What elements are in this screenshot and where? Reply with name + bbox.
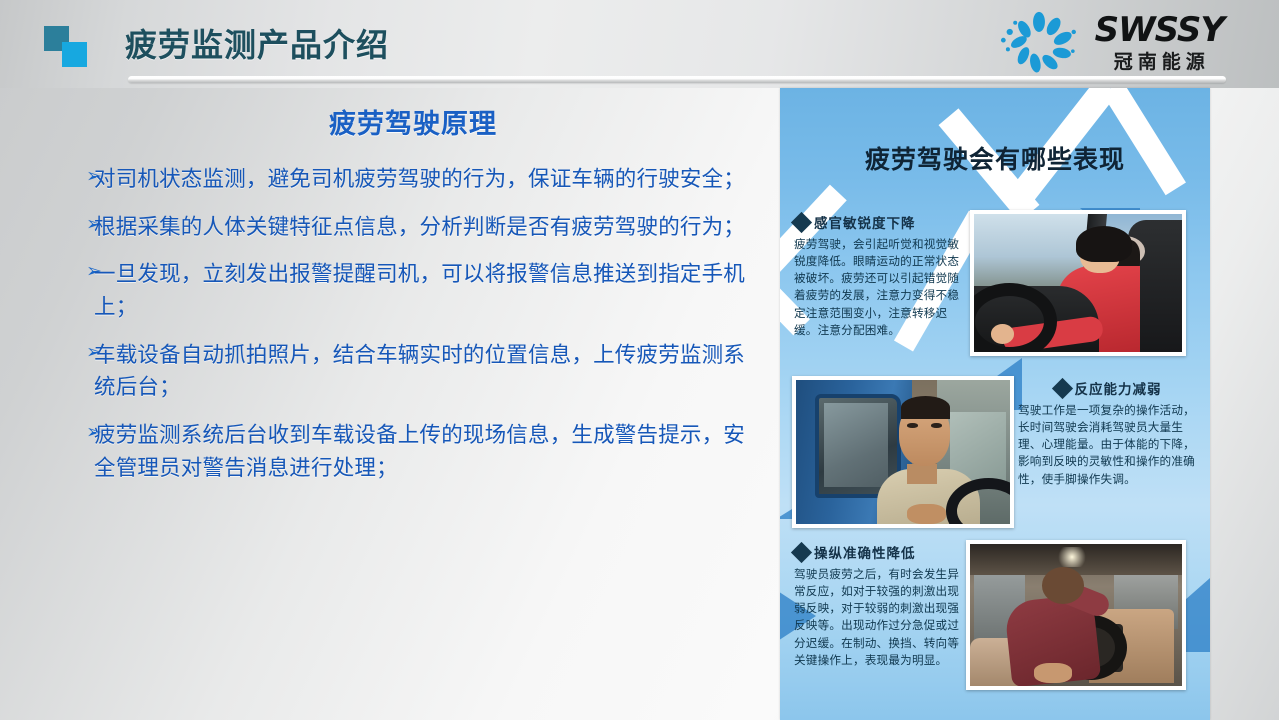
list-item-label: 一旦发现，立刻发出报警提醒司机，可以将报警信息推送到指定手机上； — [94, 258, 766, 323]
tired-older-truck-driver-photo — [792, 376, 1014, 528]
blue-water-splash-logo-icon — [993, 10, 1085, 74]
company-logo: SWSSY 冠南能源 — [993, 10, 1224, 74]
decorative-square-light — [62, 42, 87, 67]
diamond-bullet-icon — [791, 211, 812, 232]
infographic-block-body: 疲劳驾驶，会引起听觉和视觉敏锐度降低。眼睛运动的正常状态被破坏。疲劳还可以引起错… — [794, 236, 960, 339]
infographic-block-1: 感官敏锐度下降 疲劳驾驶，会引起听觉和视觉敏锐度降低。眼睛运动的正常状态被破坏。… — [794, 212, 960, 339]
infographic-block-body: 驾驶工作是一项复杂的操作活动，长时间驾驶会消耗驾驶员大量生理、心理能量。由于体能… — [1018, 402, 1198, 488]
section-heading: 疲劳驾驶原理 — [60, 96, 766, 141]
photo-scene — [974, 214, 1182, 352]
fatigue-symptoms-infographic: 疲劳驾驶会有哪些表现 感官敏锐度下降 疲劳驾驶，会引起听觉和视觉敏锐度降低。眼睛… — [780, 88, 1210, 720]
infographic-block-heading: 操纵准确性降低 — [794, 542, 962, 562]
list-item: ➢ 疲劳监测系统后台收到车载设备上传的现场信息，生成警告提示，安全管理员对警告消… — [60, 419, 766, 484]
logo-wordmark: SWSSY — [1095, 13, 1224, 47]
photo-scene — [796, 380, 1010, 524]
arrow-bullet-icon: ➢ — [60, 258, 94, 287]
list-item: ➢ 根据采集的人体关键特征点信息，分析判断是否有疲劳驾驶的行为； — [60, 211, 766, 244]
slide-header: 疲劳监测产品介绍 — [0, 0, 1279, 88]
infographic-title: 疲劳驾驶会有哪些表现 — [780, 140, 1210, 176]
infographic-block-heading-label: 操纵准确性降低 — [814, 542, 916, 562]
tired-woman-driver-photo — [970, 210, 1186, 356]
diamond-bullet-icon — [1051, 377, 1072, 398]
arrow-bullet-icon: ➢ — [60, 339, 94, 368]
list-item-label: 疲劳监测系统后台收到车载设备上传的现场信息，生成警告提示，安全管理员对警告消息进… — [94, 419, 766, 484]
arrow-bullet-icon: ➢ — [60, 163, 94, 192]
header-divider — [128, 76, 1226, 83]
photo-scene — [970, 544, 1182, 686]
infographic-block-2: 反应能力减弱 驾驶工作是一项复杂的操作活动，长时间驾驶会消耗驾驶员大量生理、心理… — [1018, 378, 1198, 488]
infographic-block-3: 操纵准确性降低 驾驶员疲劳之后，有时会发生异常反应，如对于较强的刺激出现弱反映，… — [794, 542, 962, 669]
page-title: 疲劳监测产品介绍 — [125, 20, 389, 66]
list-item-label: 车载设备自动抓拍照片，结合车辆实时的位置信息，上传疲劳监测系统后台； — [94, 339, 766, 404]
arrow-bullet-icon: ➢ — [60, 419, 94, 448]
list-item: ➢ 对司机状态监测，避免司机疲劳驾驶的行为，保证车辆的行驶安全； — [60, 163, 766, 196]
list-item: ➢ 车载设备自动抓拍照片，结合车辆实时的位置信息，上传疲劳监测系统后台； — [60, 339, 766, 404]
bullet-list: ➢ 对司机状态监测，避免司机疲劳驾驶的行为，保证车辆的行驶安全； ➢ 根据采集的… — [60, 163, 766, 484]
infographic-block-heading: 感官敏锐度下降 — [794, 212, 960, 232]
list-item: ➢ 一旦发现，立刻发出报警提醒司机，可以将报警信息推送到指定手机上； — [60, 258, 766, 323]
infographic-block-heading: 反应能力减弱 — [1018, 378, 1198, 398]
infographic-block-body: 驾驶员疲劳之后，有时会发生异常反应，如对于较强的刺激出现弱反映，对于较弱的刺激出… — [794, 566, 962, 669]
list-item-label: 根据采集的人体关键特征点信息，分析判断是否有疲劳驾驶的行为； — [94, 211, 766, 244]
logo-text: SWSSY 冠南能源 — [1095, 13, 1224, 72]
arrow-bullet-icon: ➢ — [60, 211, 94, 240]
slide-body-left: 疲劳驾驶原理 ➢ 对司机状态监测，避免司机疲劳驾驶的行为，保证车辆的行驶安全； … — [60, 96, 766, 716]
infographic-block-heading-label: 感官敏锐度下降 — [814, 212, 916, 232]
diamond-bullet-icon — [791, 541, 812, 562]
list-item-label: 对司机状态监测，避免司机疲劳驾驶的行为，保证车辆的行驶安全； — [94, 163, 766, 196]
driver-slumped-on-steering-wheel-photo — [966, 540, 1186, 690]
logo-subtext: 冠南能源 — [1109, 53, 1210, 72]
infographic-block-heading-label: 反应能力减弱 — [1075, 378, 1162, 398]
presentation-slide: 疲劳监测产品介绍 — [0, 0, 1279, 720]
